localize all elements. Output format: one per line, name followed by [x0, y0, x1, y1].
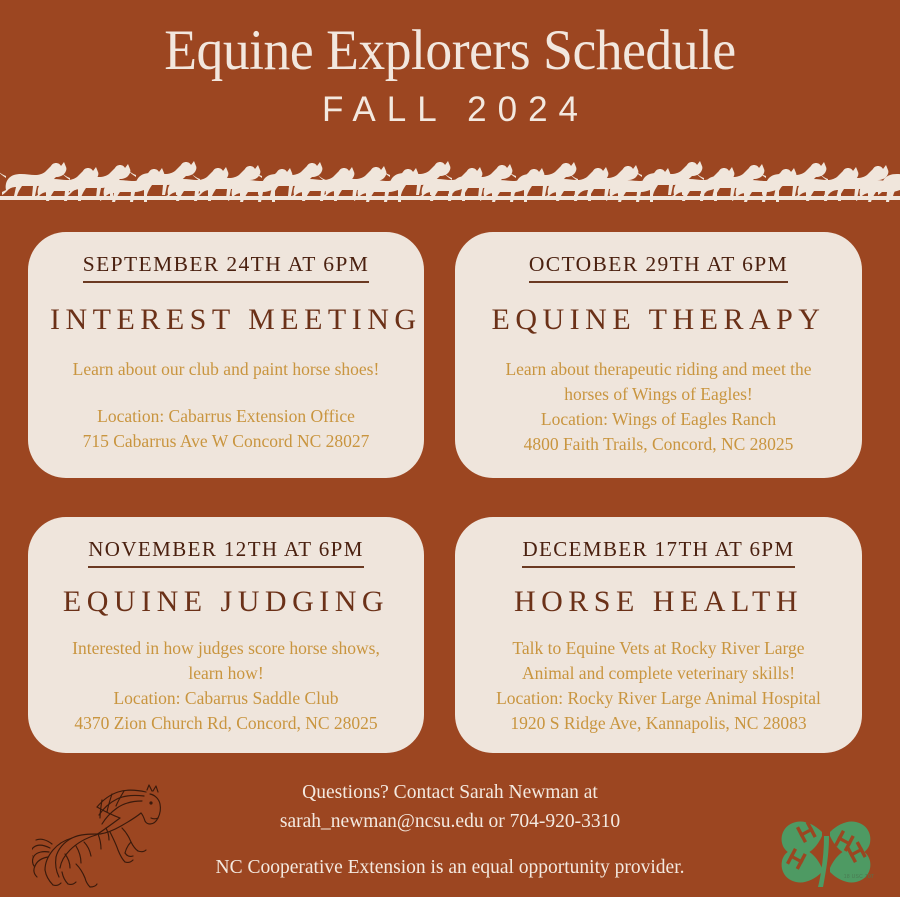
event-title: EQUINE THERAPY [477, 303, 840, 337]
running-horses-border [0, 146, 900, 204]
event-location-name: Location: Cabarrus Extension Office [50, 404, 402, 429]
page-subtitle: FALL 2024 [0, 90, 900, 130]
event-description: Learn about our club and paint horse sho… [50, 357, 402, 382]
event-card[interactable]: SEPTEMBER 24TH AT 6PM INTEREST MEETING L… [28, 232, 424, 478]
event-card[interactable]: DECEMBER 17TH AT 6PM HORSE HEALTH Talk t… [455, 517, 862, 753]
event-title: INTEREST MEETING [50, 303, 402, 337]
poster-header: Equine Explorers Schedule FALL 2024 [0, 0, 900, 130]
event-date: DECEMBER 17TH AT 6PM [522, 537, 794, 568]
page-title: Equine Explorers Schedule [27, 22, 873, 80]
event-location: Location: Cabarrus Saddle Club 4370 Zion… [50, 686, 402, 738]
event-date: SEPTEMBER 24TH AT 6PM [83, 252, 369, 283]
event-card[interactable]: NOVEMBER 12TH AT 6PM EQUINE JUDGING Inte… [28, 517, 424, 753]
event-location-address: 4800 Faith Trails, Concord, NC 28025 [477, 432, 840, 457]
event-location-address: 715 Cabarrus Ave W Concord NC 28027 [50, 429, 402, 454]
event-location: Location: Wings of Eagles Ranch 4800 Fai… [477, 407, 840, 459]
event-description: Learn about therapeutic riding and meet … [477, 357, 840, 407]
event-date: OCTOBER 29TH AT 6PM [529, 252, 788, 283]
event-location: Location: Cabarrus Extension Office 715 … [50, 404, 402, 456]
event-location-name: Location: Rocky River Large Animal Hospi… [477, 686, 840, 711]
event-description: Interested in how judges score horse sho… [50, 636, 402, 686]
event-card-grid: SEPTEMBER 24TH AT 6PM INTEREST MEETING L… [0, 232, 900, 753]
event-location-address: 1920 S Ridge Ave, Kannapolis, NC 28083 [477, 711, 840, 736]
event-title: HORSE HEALTH [477, 585, 840, 619]
event-location: Location: Rocky River Large Animal Hospi… [477, 686, 840, 738]
event-title: EQUINE JUDGING [50, 585, 402, 619]
event-date: NOVEMBER 12TH AT 6PM [88, 537, 364, 568]
event-location-name: Location: Wings of Eagles Ranch [477, 407, 840, 432]
rearing-horse-illustration [32, 772, 172, 888]
event-location-address: 4370 Zion Church Rd, Concord, NC 28025 [50, 711, 402, 736]
event-card[interactable]: OCTOBER 29TH AT 6PM EQUINE THERAPY Learn… [455, 232, 862, 478]
event-description: Talk to Equine Vets at Rocky River Large… [477, 636, 840, 686]
clover-trademark-text: 18 USC 707 [844, 874, 874, 880]
event-location-name: Location: Cabarrus Saddle Club [50, 686, 402, 711]
